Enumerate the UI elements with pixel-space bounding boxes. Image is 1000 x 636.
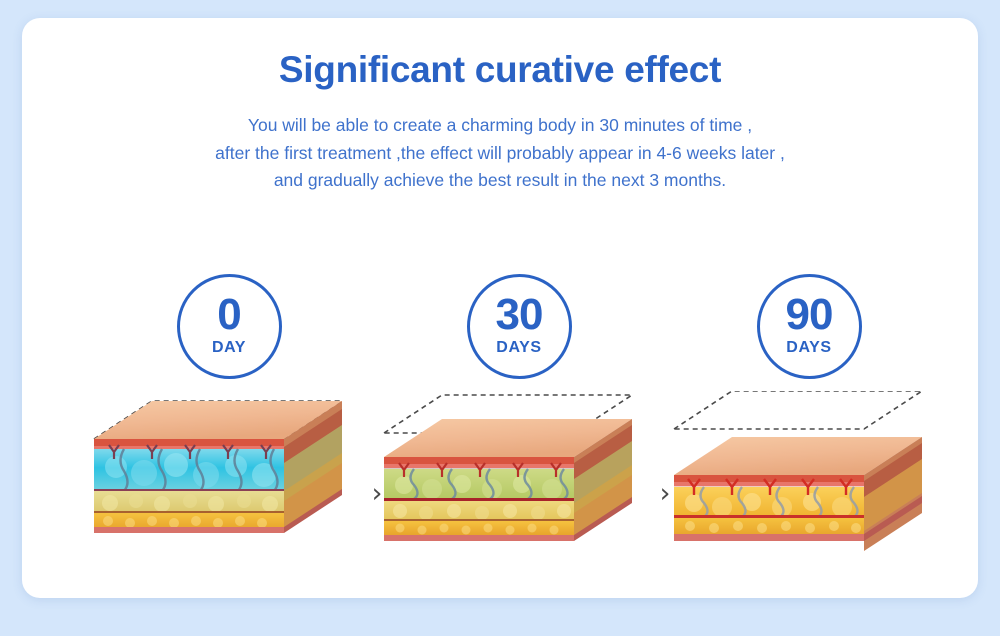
badge-wrap: 30 DAYS (374, 261, 664, 391)
skin-cross-section-icon (84, 391, 374, 571)
chevron-right-icon: › (365, 479, 389, 509)
skin-block-2 (664, 391, 954, 571)
day-badge-2: 90 DAYS (757, 274, 862, 379)
badge-wrap: 0 DAY (84, 261, 374, 391)
day-number: 90 (786, 295, 833, 335)
skin-cross-section-icon (664, 391, 954, 571)
stage-day-90: 90 DAYS (664, 261, 954, 581)
subtitle-line: and gradually achieve the best result in… (22, 167, 978, 194)
stage-day-0: 0 DAY (84, 261, 374, 581)
page-subtitle: You will be able to create a charming bo… (22, 112, 978, 193)
day-unit: DAYS (496, 339, 541, 357)
day-number: 0 (217, 295, 240, 335)
page-title: Significant curative effect (22, 48, 978, 92)
day-number: 30 (496, 295, 543, 335)
header: Significant curative effect You will be … (22, 18, 978, 194)
chevron-right-icon: › (653, 479, 677, 509)
skin-cross-section-icon (374, 391, 664, 571)
skin-block-0 (84, 391, 374, 571)
subtitle-line: after the first treatment ,the effect wi… (22, 140, 978, 167)
subtitle-line: You will be able to create a charming bo… (22, 112, 978, 139)
skin-block-1 (374, 391, 664, 571)
content-card: Significant curative effect You will be … (22, 18, 978, 598)
day-unit: DAY (212, 339, 246, 357)
stage-day-30: 30 DAYS (374, 261, 664, 581)
day-badge-0: 0 DAY (177, 274, 282, 379)
stages-row: 0 DAY (22, 261, 978, 581)
page-root: Significant curative effect You will be … (0, 0, 1000, 636)
badge-wrap: 90 DAYS (664, 261, 954, 391)
day-badge-1: 30 DAYS (467, 274, 572, 379)
day-unit: DAYS (786, 339, 831, 357)
